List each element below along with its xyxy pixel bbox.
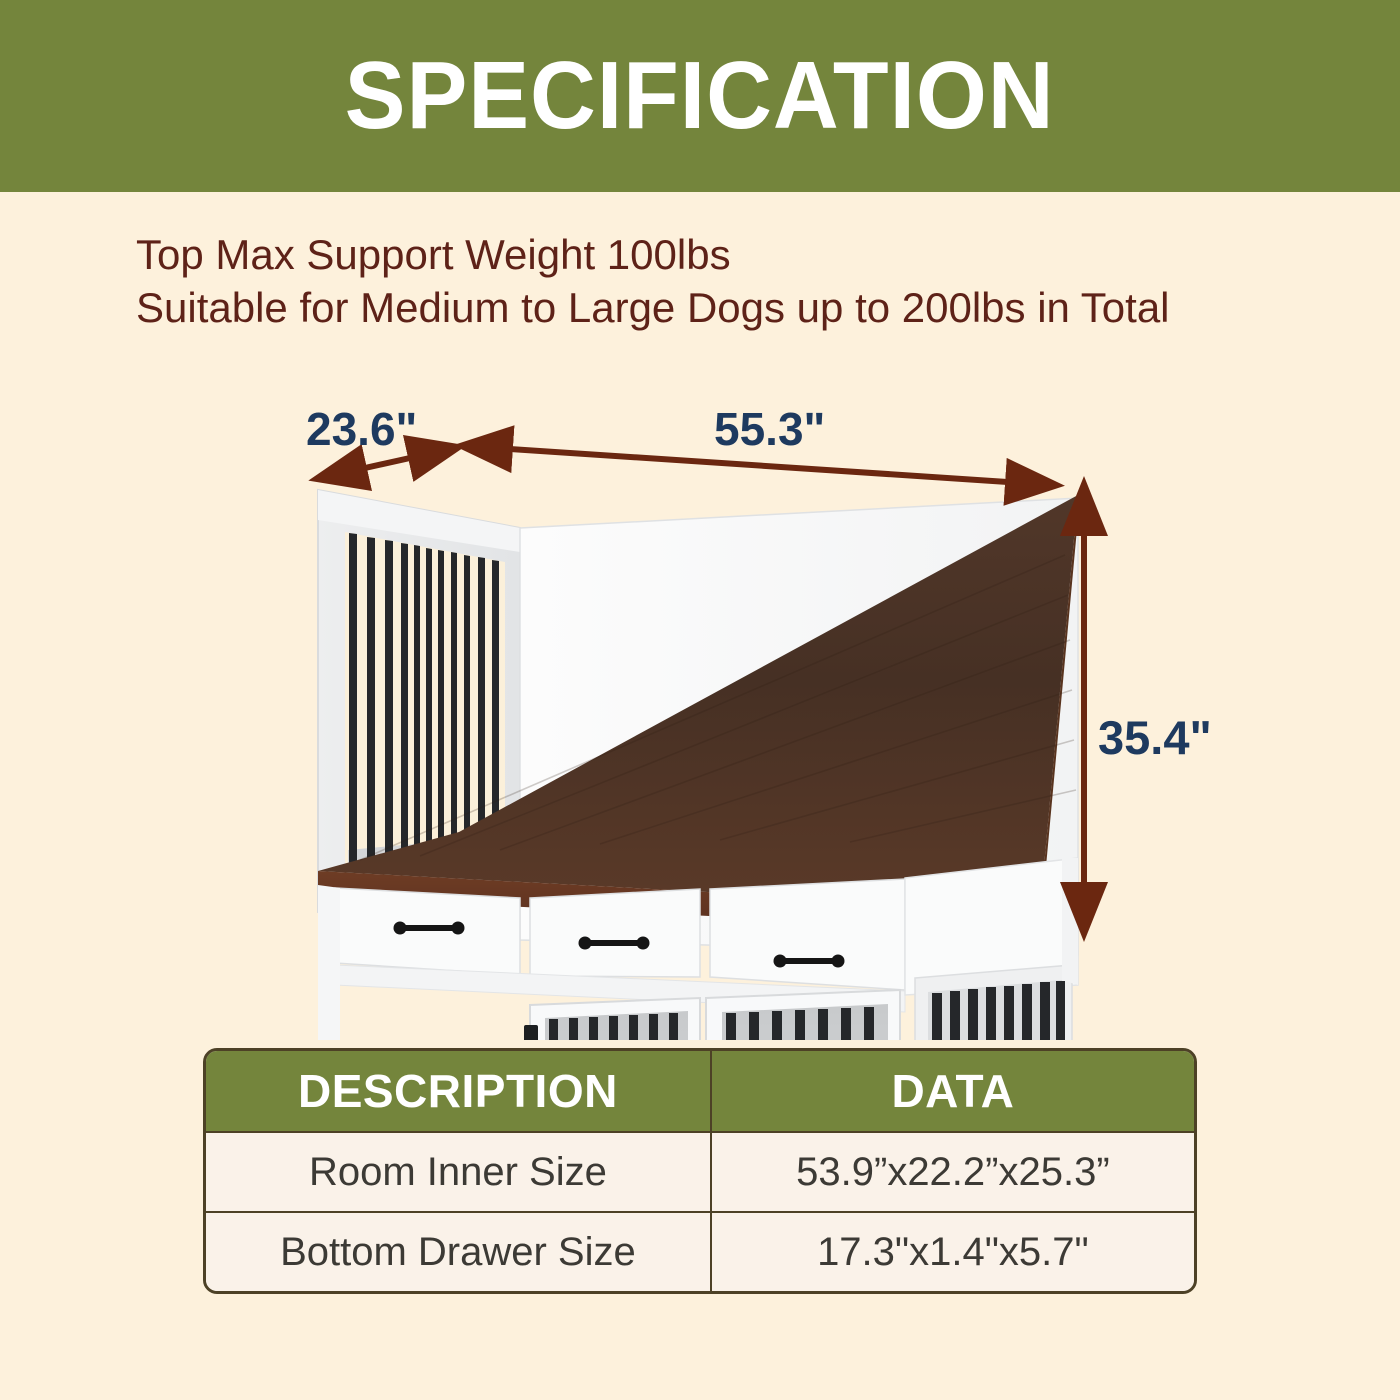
height-dimension-label: 35.4" (1098, 710, 1212, 765)
drawer-3 (710, 879, 905, 990)
drawer-row (335, 879, 905, 1012)
drawer-1 (335, 888, 520, 975)
table-header-row: DESCRIPTION DATA (206, 1051, 1194, 1133)
table-header-description: DESCRIPTION (206, 1051, 712, 1133)
left-front-stile (318, 885, 340, 1040)
table-cell-description: Room Inner Size (206, 1133, 712, 1211)
hinge-icon (524, 1025, 538, 1040)
crate-door-left (524, 998, 700, 1040)
table-cell-description: Bottom Drawer Size (206, 1211, 712, 1291)
specification-table: DESCRIPTION DATA Room Inner Size 53.9”x2… (203, 1048, 1197, 1294)
drawer-2 (530, 889, 700, 977)
table-header-data: DATA (712, 1051, 1194, 1133)
header-banner: SPECIFICATION (0, 0, 1400, 192)
subtitle-line-2: Suitable for Medium to Large Dogs up to … (136, 281, 1336, 334)
page-title: SPECIFICATION (345, 48, 1055, 144)
width-dimension-label: 55.3" (714, 402, 825, 456)
depth-dimension-label: 23.6" (306, 402, 417, 456)
product-illustration-stage: 23.6" 55.3" 35.4" (0, 380, 1400, 1040)
right-side-panel (905, 858, 1078, 1040)
subtitle-block: Top Max Support Weight 100lbs Suitable f… (136, 228, 1336, 334)
table-cell-data: 53.9”x22.2”x25.3” (712, 1133, 1194, 1211)
table-row: Bottom Drawer Size 17.3"x1.4"x5.7" (206, 1211, 1194, 1291)
table-cell-data: 17.3"x1.4"x5.7" (712, 1211, 1194, 1291)
crate-door-right (706, 990, 900, 1040)
subtitle-line-1: Top Max Support Weight 100lbs (136, 228, 1336, 281)
table-row: Room Inner Size 53.9”x22.2”x25.3” (206, 1133, 1194, 1211)
